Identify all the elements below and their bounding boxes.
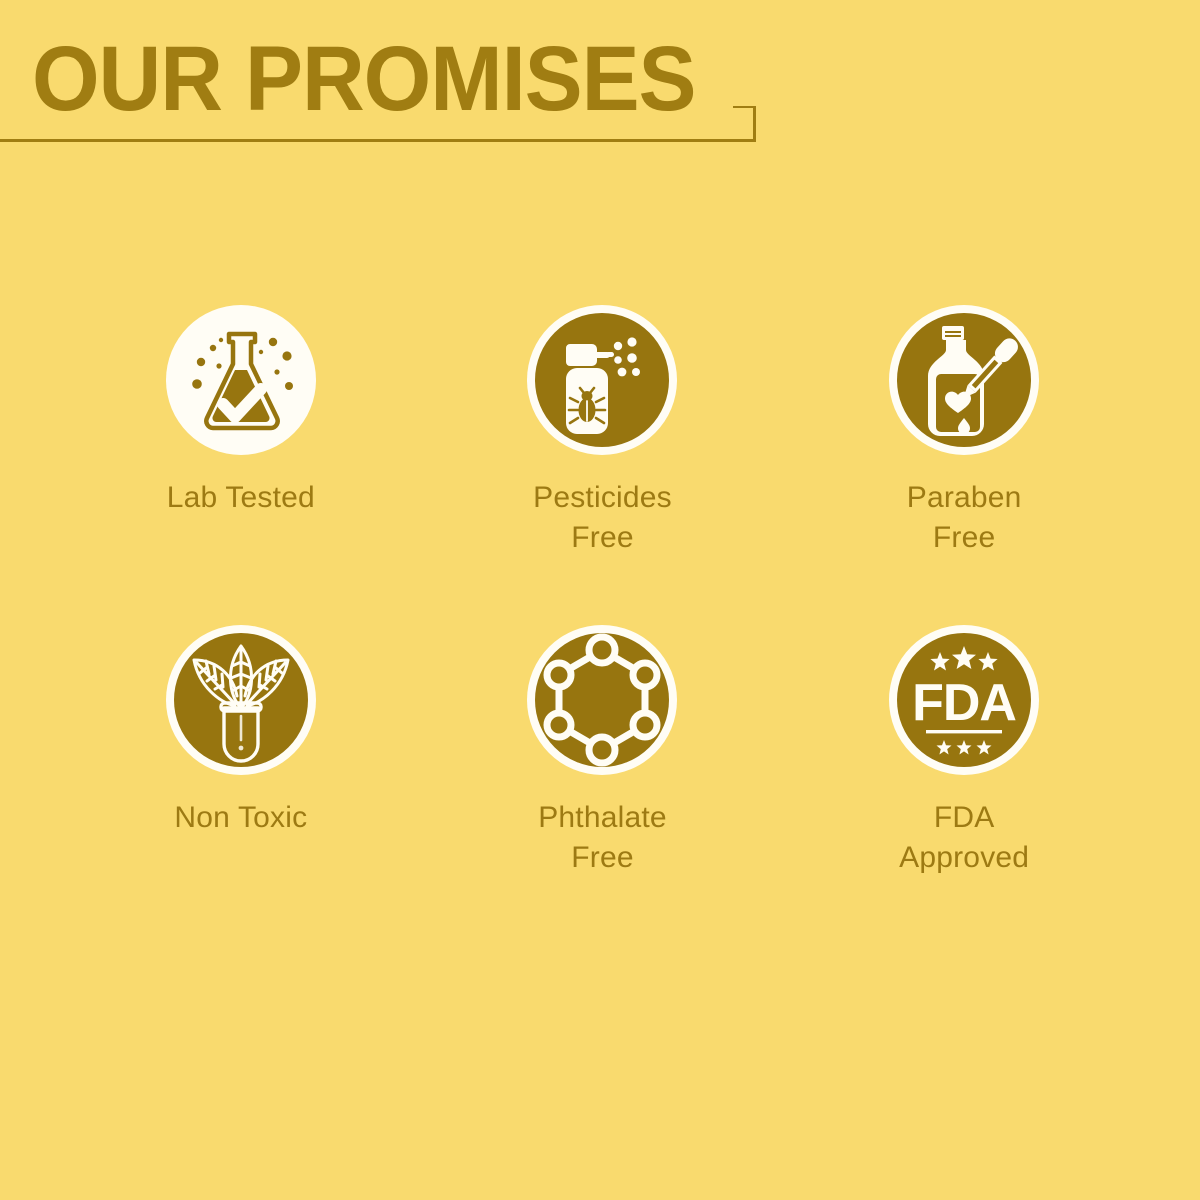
title-rule-bottom [0,139,756,142]
promise-item-pesticides-free: Pesticides Free [422,300,784,620]
promise-label: Paraben Free [907,478,1022,557]
promise-item-phthalate-free: Phthalate Free [422,620,784,940]
page-title: OUR PROMISES [32,34,695,126]
header: OUR PROMISES [0,0,1200,160]
promise-label: Pesticides Free [533,478,672,557]
promise-label: Phthalate Free [538,798,667,877]
promises-grid: Lab Tested [60,300,1145,940]
hexagon-molecule-icon [522,620,682,780]
fda-seal-text: FDA [912,674,1016,732]
spray-bottle-bug-icon [522,300,682,460]
title-rule-right [753,106,756,142]
fda-seal-stars-icon: FDA [884,620,1044,780]
promise-label: FDA Approved [899,798,1029,877]
leaves-test-tube-icon [161,620,321,780]
promise-item-non-toxic: Non Toxic [60,620,422,940]
bottle-dropper-heart-icon [884,300,1044,460]
promise-item-fda-approved: FDA FDA Approved [783,620,1145,940]
title-rule-top-stub [733,106,755,108]
promise-item-lab-tested: Lab Tested [60,300,422,620]
promise-label: Non Toxic [174,798,307,838]
promise-label: Lab Tested [167,478,315,518]
lab-flask-check-icon [161,300,321,460]
promise-item-paraben-free: Paraben Free [783,300,1145,620]
